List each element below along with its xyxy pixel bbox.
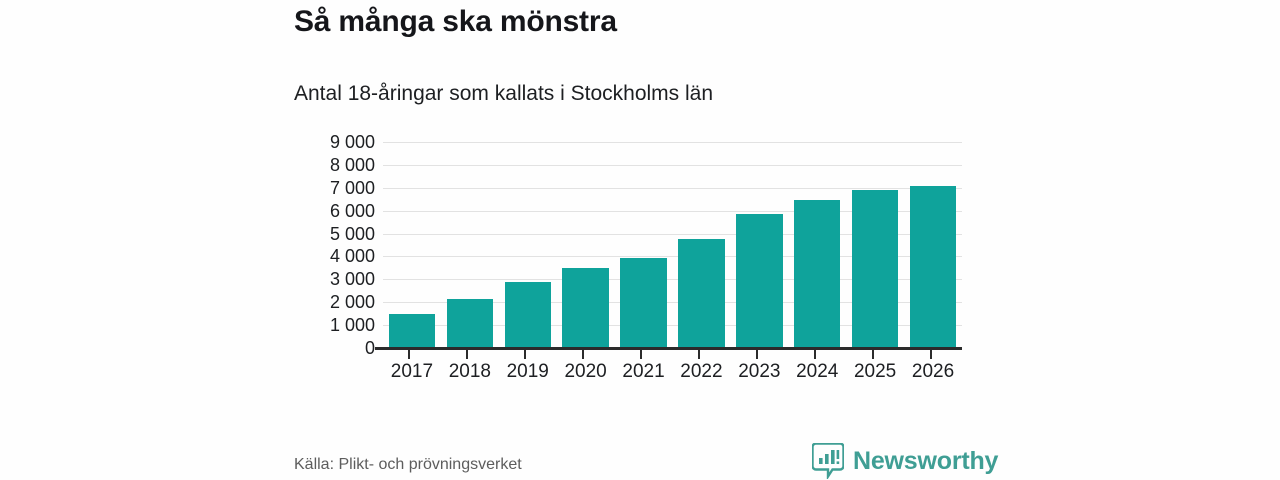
y-axis-tick-label: 4 000 — [300, 246, 375, 266]
bar — [736, 214, 782, 348]
x-axis-tick — [930, 350, 932, 359]
bar — [562, 268, 608, 348]
y-axis-tick-label: 2 000 — [300, 292, 375, 312]
x-axis-tick-label: 2020 — [557, 361, 615, 383]
x-axis-tick-label: 2025 — [846, 361, 904, 383]
x-axis-tick — [640, 350, 642, 359]
x-axis-tick — [814, 350, 816, 359]
x-axis-tick — [872, 350, 874, 359]
bar — [794, 200, 840, 348]
chart-subtitle: Antal 18-åringar som kallats i Stockholm… — [294, 82, 713, 106]
y-axis-tick-label: 0 — [300, 338, 375, 358]
x-axis-tick-label: 2026 — [904, 361, 962, 383]
x-axis-tick — [698, 350, 700, 359]
x-axis-tick-label: 2017 — [383, 361, 441, 383]
x-axis-tick-marks — [383, 350, 962, 359]
bar — [505, 282, 551, 348]
y-axis-tick-label: 1 000 — [300, 315, 375, 335]
y-axis-tick-label: 6 000 — [300, 201, 375, 221]
x-axis-tick-label: 2022 — [673, 361, 731, 383]
bar — [620, 258, 666, 348]
x-axis-tick — [524, 350, 526, 359]
x-axis-tick-label: 2021 — [615, 361, 673, 383]
x-axis-tick-label: 2023 — [730, 361, 788, 383]
logo-wordmark: Newsworthy — [853, 447, 998, 476]
newsworthy-logo: Newsworthy — [812, 443, 998, 479]
x-axis-tick — [756, 350, 758, 359]
bar-series — [383, 142, 962, 348]
y-axis-tick-label: 7 000 — [300, 178, 375, 198]
source-note: Källa: Plikt- och prövningsverket — [294, 456, 522, 474]
x-axis-tick-label: 2018 — [441, 361, 499, 383]
page-title: Så många ska mönstra — [294, 5, 617, 39]
x-axis-tick — [408, 350, 410, 359]
x-axis-tick — [466, 350, 468, 359]
y-axis-tick-label: 3 000 — [300, 269, 375, 289]
bar — [910, 186, 956, 349]
chart-page: Så många ska mönstra Antal 18-åringar so… — [0, 0, 1280, 480]
y-axis-tick-label: 8 000 — [300, 155, 375, 175]
x-axis-tick-label: 2019 — [499, 361, 557, 383]
bar — [447, 299, 493, 348]
x-axis-tick — [582, 350, 584, 359]
bar — [678, 239, 724, 348]
y-axis-tick-label: 5 000 — [300, 224, 375, 244]
speech-bubble-bar-chart-icon — [812, 443, 844, 479]
x-axis-tick-label: 2024 — [788, 361, 846, 383]
x-axis-labels: 2017201820192020202120222023202420252026 — [383, 361, 962, 387]
bar — [389, 314, 435, 348]
y-axis-tick-label: 9 000 — [300, 132, 375, 152]
bar — [852, 190, 898, 348]
y-axis-labels: 01 0002 0003 0004 0005 0006 0007 0008 00… — [300, 132, 375, 357]
